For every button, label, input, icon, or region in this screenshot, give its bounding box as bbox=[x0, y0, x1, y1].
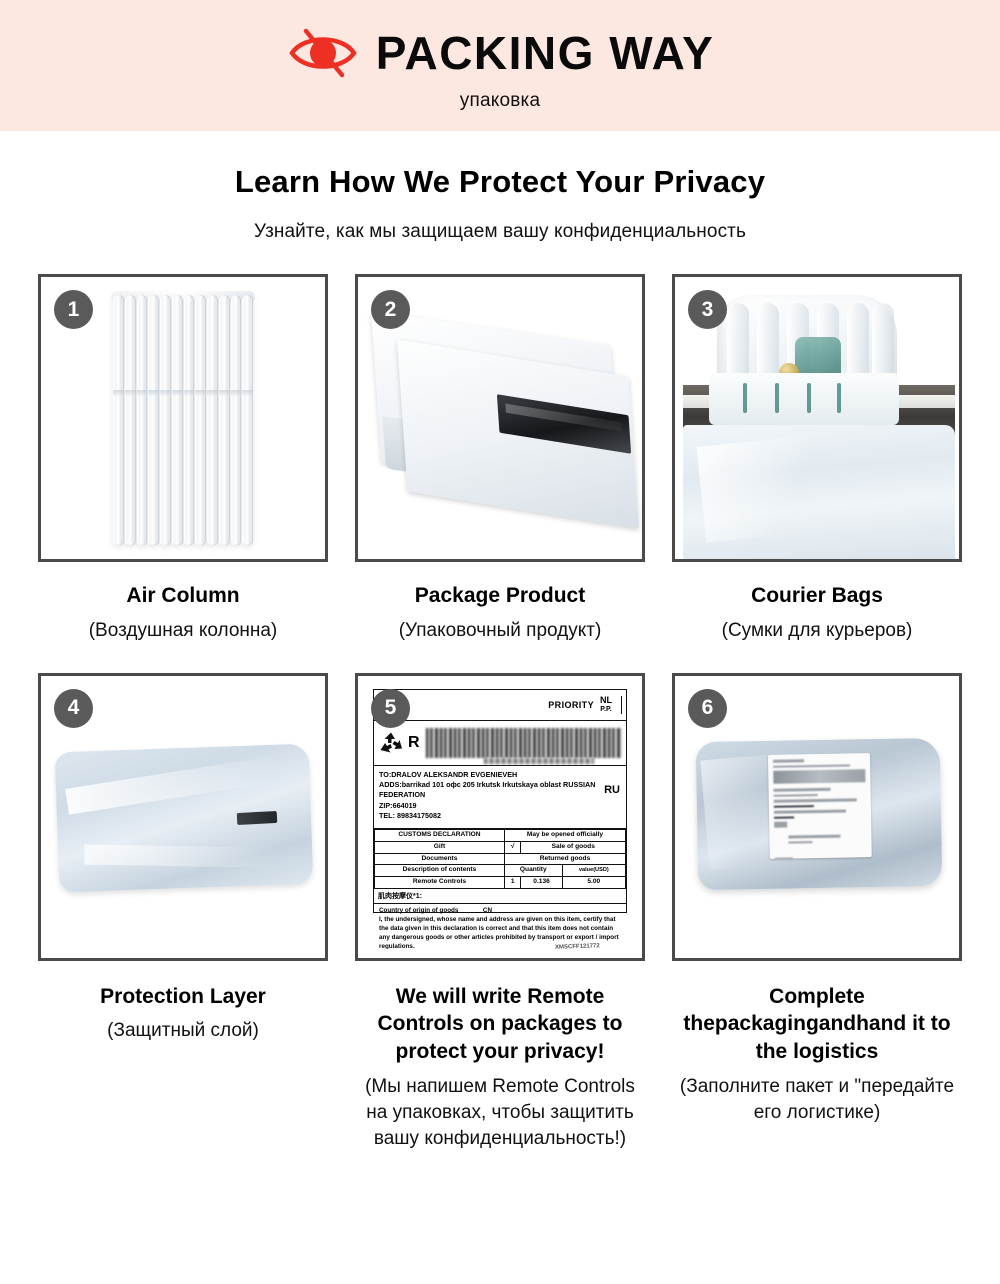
divider-line bbox=[621, 696, 622, 714]
recycle-icon bbox=[378, 731, 404, 755]
col-quantity: Quantity bbox=[504, 865, 562, 877]
page-subtitle: Узнайте, как мы защищаем вашу конфиденци… bbox=[0, 221, 1000, 243]
table-row: Remote Controls 1 0.136 5.00 bbox=[375, 877, 626, 889]
step-caption-en: Package Product bbox=[365, 582, 635, 610]
table-row: Description of contents Quantity value(U… bbox=[375, 865, 626, 877]
stamp-code: XMSCFF121772 bbox=[555, 943, 600, 949]
country-code: NL bbox=[600, 695, 612, 705]
step-caption-en: Air Column bbox=[48, 582, 318, 610]
table-row: Documents Returned goods bbox=[375, 853, 626, 865]
brand-row: PACKING WAY bbox=[286, 25, 715, 81]
dots-separator-2: ________ bbox=[494, 907, 522, 914]
pp-text: P.P. bbox=[600, 706, 612, 714]
recipient-address: ADDS:barrikad 101 офс 205 Irkutsk Irkuts… bbox=[379, 780, 622, 801]
label-fineprint: Country of origin of goods ______ CN ___… bbox=[374, 904, 626, 948]
returned-goods-cell: Returned goods bbox=[504, 853, 625, 865]
step-caption-ru: (Упаковочный продукт) bbox=[360, 618, 640, 644]
item-kg: 0.136 bbox=[521, 877, 562, 889]
item-value: 5.00 bbox=[562, 877, 625, 889]
step-number-badge: 5 bbox=[371, 689, 410, 728]
may-be-opened: May be opened officially bbox=[504, 829, 625, 841]
step-card-2: 2 Package Product (Упаковочный продукт) bbox=[355, 274, 645, 644]
destination-country-code: RU bbox=[604, 784, 620, 796]
gift-cell: Gift bbox=[375, 841, 505, 853]
step-card-3: 3 Courier Bags (Сумки для курьеров) bbox=[672, 274, 962, 644]
step-number-badge: 3 bbox=[688, 290, 727, 329]
table-row: CUSTOMS DECLARATION May be opened offici… bbox=[375, 829, 626, 841]
origin-value: CN bbox=[483, 907, 492, 914]
step-card-6: 6 bbox=[672, 673, 962, 1152]
step-image-2: 2 bbox=[355, 274, 645, 562]
sale-of-goods-cell: Sale of goods bbox=[521, 841, 626, 853]
step-number-badge: 2 bbox=[371, 290, 410, 329]
label-barcode-row: R bbox=[374, 721, 626, 766]
step-caption-ru: (Воздушная колонна) bbox=[43, 618, 323, 644]
step-image-4: 4 bbox=[38, 673, 328, 961]
step-image-5: 5 PRIORITY NL P.P. bbox=[355, 673, 645, 961]
step-card-4: 4 Protection Layer (Защитный слой) bbox=[38, 673, 328, 1152]
step-number-badge: 1 bbox=[54, 290, 93, 329]
step-caption-en: Complete thepackagingandhand it to the l… bbox=[682, 983, 952, 1067]
step-caption-ru: (Сумки для курьеров) bbox=[677, 618, 957, 644]
eye-off-icon bbox=[286, 25, 360, 81]
page-title: Learn How We Protect Your Privacy bbox=[0, 164, 1000, 200]
documents-cell: Documents bbox=[375, 853, 505, 865]
steps-grid: 1 Air Column (Воздушная колонна) 2 Packa… bbox=[38, 274, 962, 1151]
step-image-6: 6 bbox=[672, 673, 962, 961]
country-code-block: NL P.P. bbox=[600, 695, 612, 713]
chinese-item-note: 肌肉按摩仪*1: bbox=[374, 889, 626, 904]
step-number-badge: 6 bbox=[688, 689, 727, 728]
step-card-1: 1 Air Column (Воздушная колонна) bbox=[38, 274, 328, 644]
step-caption-en: We will write Remote Controls on package… bbox=[365, 983, 635, 1067]
recipient-name: TO:DRALOV ALEKSANDR EVGENIEVEH bbox=[379, 770, 622, 780]
col-description: Description of contents bbox=[375, 865, 505, 877]
recycle-r-mark: R bbox=[408, 734, 420, 752]
origin-row: Country of origin of goods ______ CN ___… bbox=[379, 907, 622, 916]
customs-declaration-table: CUSTOMS DECLARATION May be opened offici… bbox=[374, 829, 626, 889]
label-priority-row: PRIORITY NL P.P. bbox=[374, 690, 626, 721]
item-description: Remote Controls bbox=[375, 877, 505, 889]
step-caption-en: Courier Bags bbox=[682, 582, 952, 610]
step-image-3: 3 bbox=[672, 274, 962, 562]
label-address-block: TO:DRALOV ALEKSANDR EVGENIEVEH ADDS:barr… bbox=[374, 766, 626, 829]
customs-title: CUSTOMS DECLARATION bbox=[375, 829, 505, 841]
col-value: value(USD) bbox=[562, 865, 625, 877]
step-caption-ru: (Мы напишем Remote Controls на упаковках… bbox=[360, 1074, 640, 1151]
recipient-tel: TEL: 89834175082 bbox=[379, 811, 622, 821]
step-number-badge: 4 bbox=[54, 689, 93, 728]
barcode-number-blurred bbox=[484, 758, 594, 764]
step-caption-ru: (Заполните пакет и "передайте его логист… bbox=[677, 1074, 957, 1125]
step-image-1: 1 bbox=[38, 274, 328, 562]
step-card-5: 5 PRIORITY NL P.P. bbox=[355, 673, 645, 1152]
step-caption-ru: (Защитный слой) bbox=[43, 1018, 323, 1044]
recipient-zip: ZIP:664019 bbox=[379, 801, 622, 811]
package-label-blurred bbox=[768, 753, 872, 859]
dots-separator: ______ bbox=[460, 907, 483, 914]
step-caption-en: Protection Layer bbox=[48, 983, 318, 1011]
check-mark-cell: √ bbox=[504, 841, 521, 853]
brand-title: PACKING WAY bbox=[376, 30, 715, 76]
brand-subtitle: упаковка bbox=[460, 90, 540, 112]
origin-label: Country of origin of goods bbox=[379, 907, 458, 914]
priority-text: PRIORITY bbox=[548, 700, 594, 710]
table-row: Gift √ Sale of goods bbox=[375, 841, 626, 853]
brand-header: PACKING WAY упаковка bbox=[0, 0, 1000, 131]
barcode-icon bbox=[426, 728, 622, 758]
shipping-label: PRIORITY NL P.P. bbox=[367, 685, 633, 949]
item-quantity: 1 bbox=[504, 877, 521, 889]
